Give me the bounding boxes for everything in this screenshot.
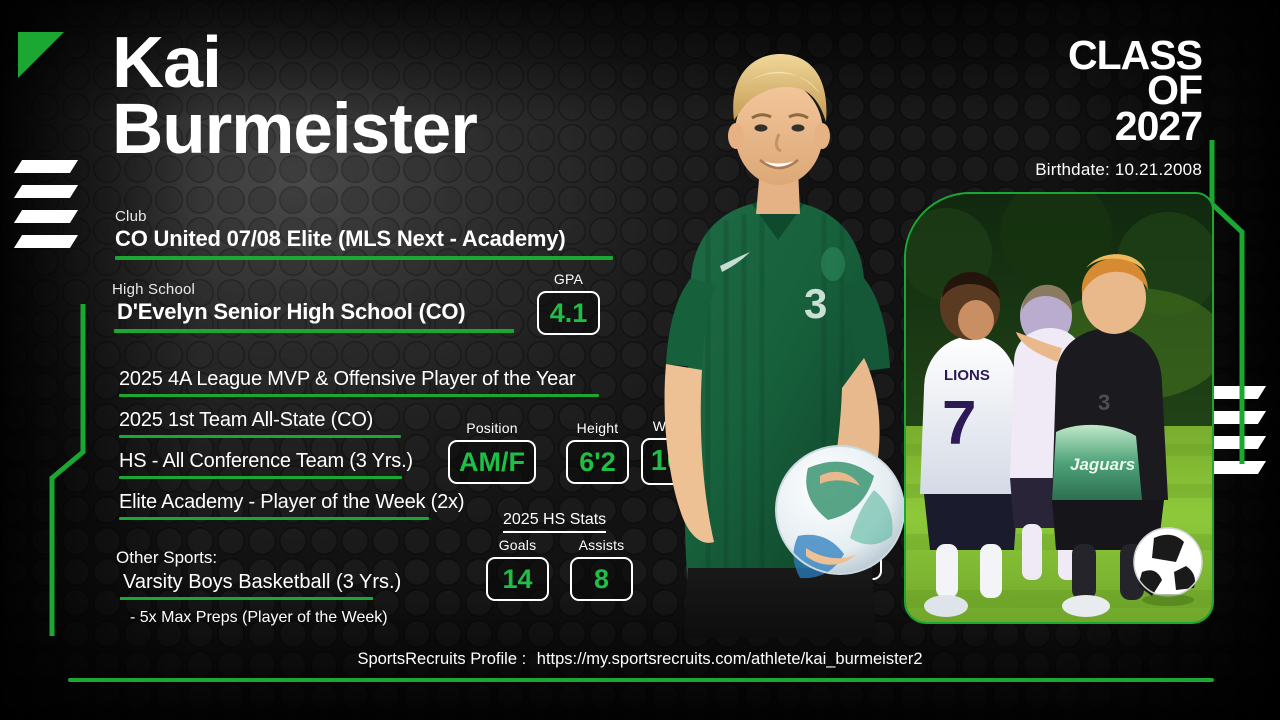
white-slashes-left xyxy=(18,160,74,260)
high-school-label: High School xyxy=(112,281,514,298)
footer-lead: SportsRecruits Profile : xyxy=(357,650,526,668)
club-underline xyxy=(115,256,613,260)
green-triangle-icon xyxy=(18,32,64,78)
award-underline xyxy=(119,435,401,438)
other-sports-underline xyxy=(120,597,373,600)
athlete-first-name: Kai xyxy=(112,30,477,97)
footer-url[interactable]: https://my.sportsrecruits.com/athlete/ka… xyxy=(537,650,923,668)
club-value: CO United 07/08 Elite (MLS Next - Academ… xyxy=(115,226,613,252)
award-underline xyxy=(119,394,599,397)
other-sports-main: Varsity Boys Basketball (3 Yrs.) xyxy=(116,571,401,594)
athlete-name: Kai Burmeister xyxy=(112,30,477,163)
gpa-value: 4.1 xyxy=(537,291,600,335)
height-label: Height xyxy=(566,420,629,436)
slash-icon xyxy=(14,235,78,248)
action-photo: LIONS 7 3 Jaguars xyxy=(904,192,1214,624)
birthdate-text: Birthdate: 10.21.2008 xyxy=(1035,160,1202,180)
award-item: 2025 4A League MVP & Offensive Player of… xyxy=(119,368,599,397)
award-text: 2025 4A League MVP & Offensive Player of… xyxy=(119,368,599,391)
photo-jersey-team-2: Jaguars xyxy=(1070,455,1135,474)
goals-value: 14 xyxy=(486,557,549,601)
class-of-block: CLASS OF 2027 Birthdate: 10.21.2008 xyxy=(1035,38,1202,180)
other-sports-title: Other Sports: xyxy=(116,548,401,568)
slash-icon xyxy=(14,160,78,173)
goals-stat: Goals 14 xyxy=(486,537,549,601)
high-school-field: High School D'Evelyn Senior High School … xyxy=(112,281,514,333)
award-underline xyxy=(119,476,402,479)
hs-stats-title: 2025 HS Stats xyxy=(503,511,606,533)
club-label: Club xyxy=(115,208,613,225)
footer-green-rule xyxy=(68,678,1214,682)
shorts xyxy=(684,568,876,638)
other-sports-section: Other Sports: Varsity Boys Basketball (3… xyxy=(116,548,401,627)
position-label: Position xyxy=(448,420,536,436)
position-value: AM/F xyxy=(448,440,536,484)
height-stat: Height 6'2 xyxy=(566,420,629,484)
high-school-value: D'Evelyn Senior High School (CO) xyxy=(112,299,514,325)
assists-stat: Assists 8 xyxy=(570,537,633,601)
class-year: 2027 xyxy=(1035,109,1202,144)
goals-label: Goals xyxy=(486,537,549,553)
assists-value: 8 xyxy=(570,557,633,601)
photo-jersey-number: 7 xyxy=(942,389,976,458)
jersey-number: 3 xyxy=(804,280,827,327)
height-value: 6'2 xyxy=(566,440,629,484)
photo-jersey-team: LIONS xyxy=(944,367,990,384)
gpa-stat: GPA 4.1 xyxy=(537,271,600,335)
athlete-last-name: Burmeister xyxy=(112,97,477,163)
position-stat: Position AM/F xyxy=(448,420,536,484)
club-field: Club CO United 07/08 Elite (MLS Next - A… xyxy=(115,208,613,260)
slash-icon xyxy=(14,210,78,223)
other-sports-sub: - 5x Max Preps (Player of the Week) xyxy=(116,609,401,627)
award-underline xyxy=(119,517,429,520)
athlete-portrait-photo: 3 xyxy=(628,28,928,638)
high-school-underline xyxy=(114,329,514,333)
assists-label: Assists xyxy=(570,537,633,553)
gpa-label: GPA xyxy=(537,271,600,287)
slash-icon xyxy=(14,185,78,198)
green-zigzag-left-icon xyxy=(36,300,96,640)
svg-text:3: 3 xyxy=(1098,390,1110,415)
footer-profile-link[interactable]: SportsRecruits Profile : https://my.spor… xyxy=(0,650,1280,669)
